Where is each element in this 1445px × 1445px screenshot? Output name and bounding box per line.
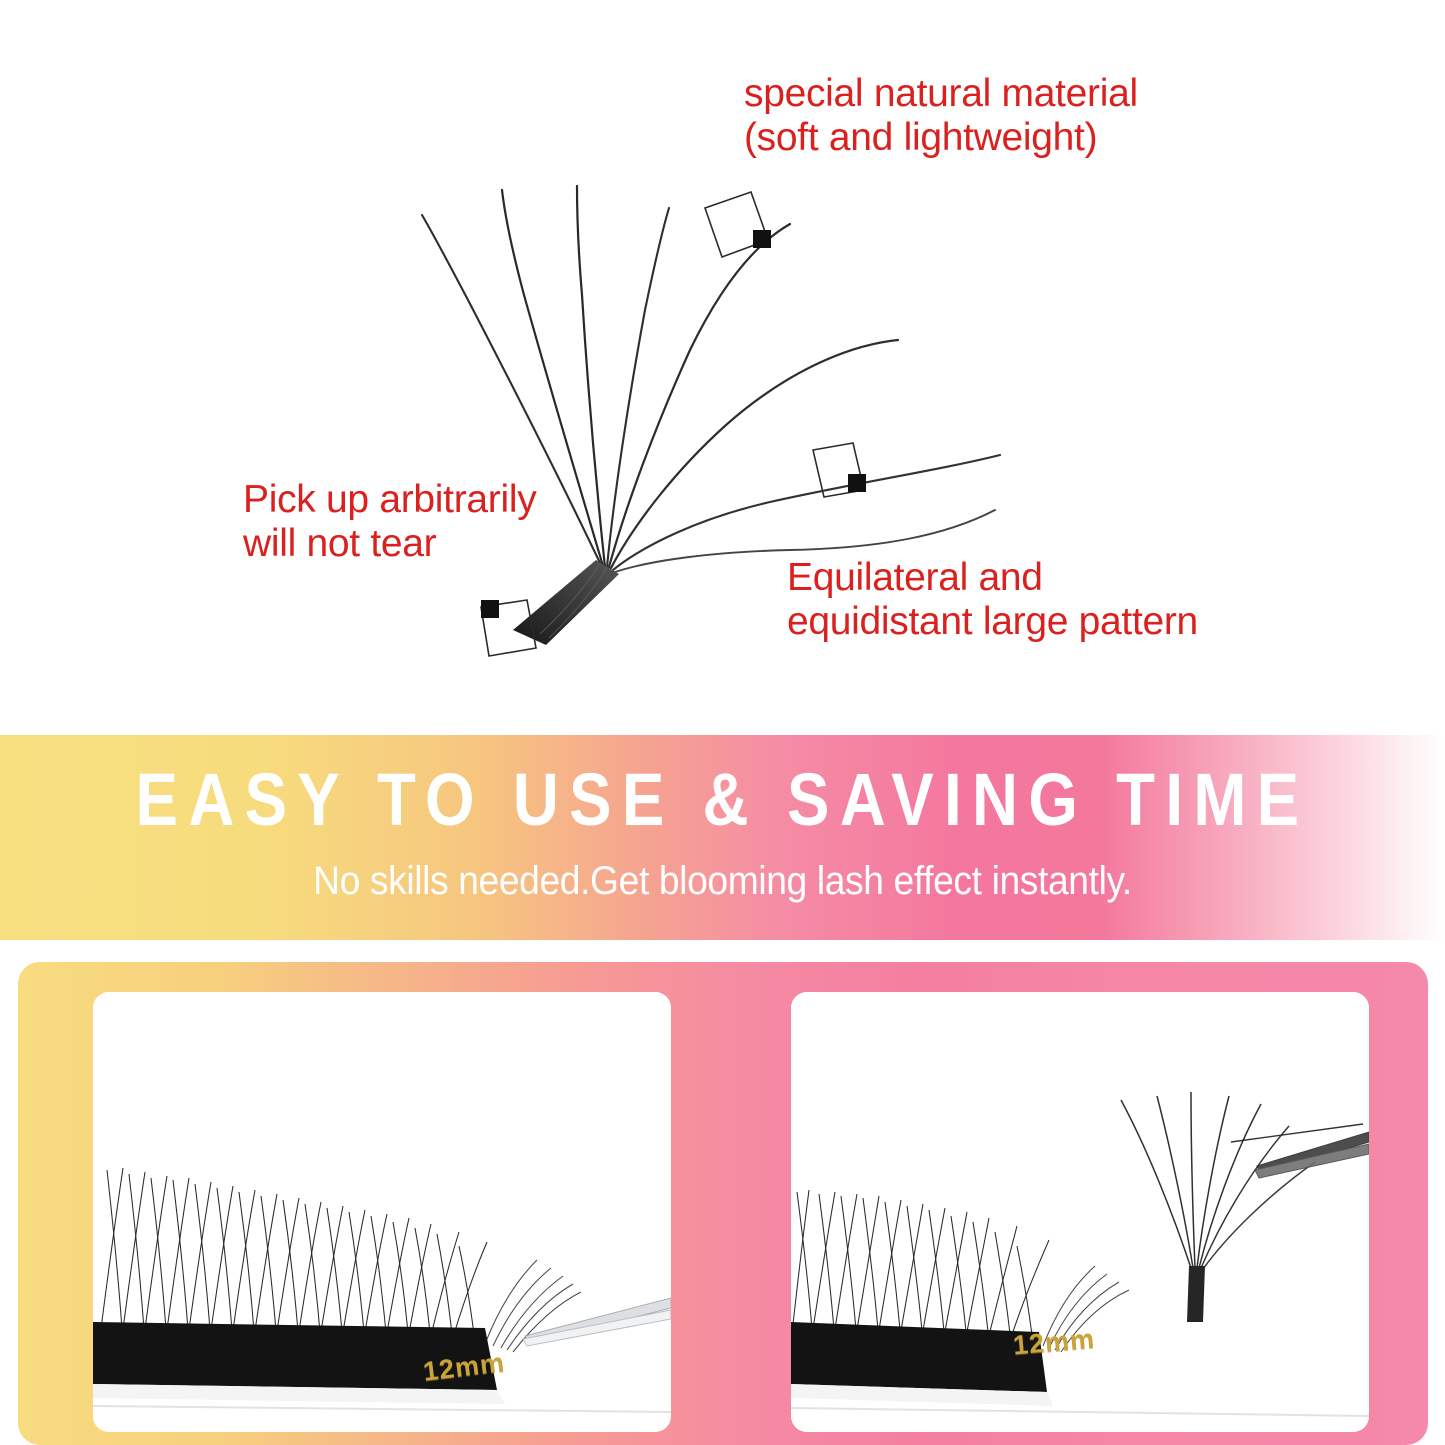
lash-tray-with-detached-fan-photo	[791, 992, 1369, 1432]
annotation-pick-up-arbitrarily: Pick up arbitrarily will not tear	[243, 478, 536, 566]
lash-fan-base	[513, 560, 619, 645]
lash-fan-diagram-section: special natural material (soft and light…	[0, 0, 1445, 735]
annotation-equilateral-equidistant: Equilateral and equidistant large patter…	[787, 556, 1198, 644]
callout-marker-top	[705, 192, 771, 257]
photo-frame-right: 12mm	[791, 992, 1369, 1432]
lash-strip-base-right	[791, 1322, 1047, 1392]
photo-frame-left: 12mm	[93, 992, 671, 1432]
detached-fan-base	[1187, 1266, 1205, 1322]
product-photo-panel: 12mm	[18, 962, 1428, 1445]
callout-marker-right	[813, 443, 866, 497]
feature-banner: EASY TO USE & SAVING TIME No skills need…	[0, 735, 1445, 940]
annotation-special-natural-material: special natural material (soft and light…	[744, 72, 1138, 160]
banner-headline: EASY TO USE & SAVING TIME	[101, 757, 1344, 842]
lash-fan-illustration	[0, 0, 1445, 735]
banner-subheadline: No skills needed.Get blooming lash effec…	[51, 859, 1395, 904]
lash-tray-with-tweezers-photo	[93, 992, 671, 1432]
